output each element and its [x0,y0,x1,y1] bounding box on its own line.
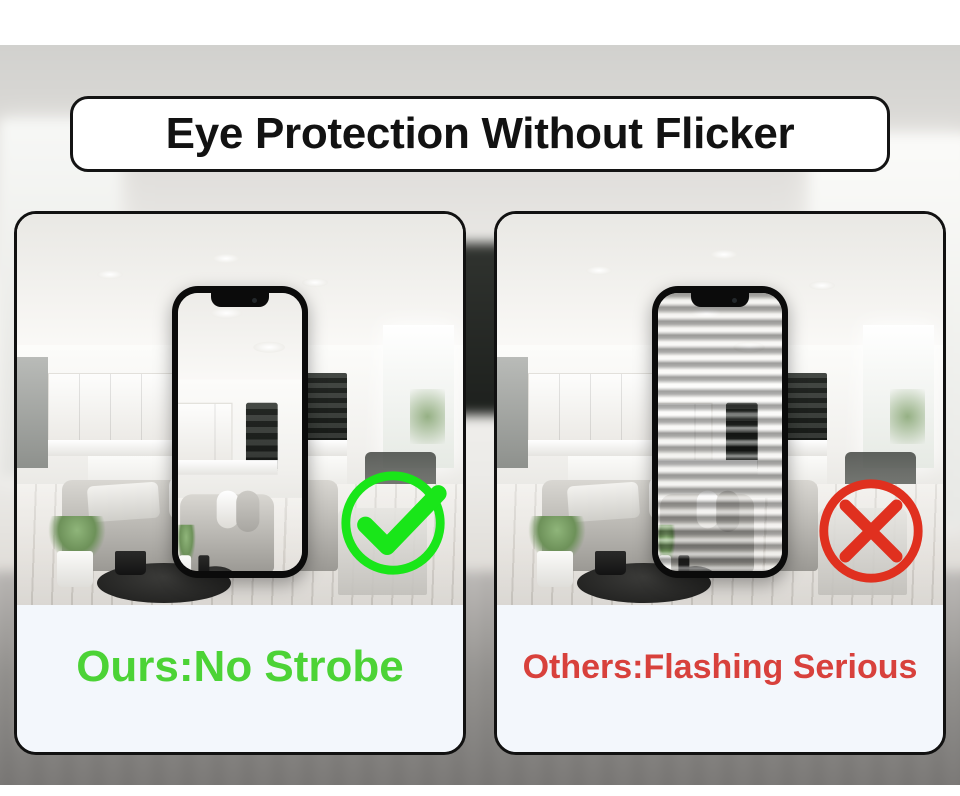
scene-fridge [17,357,48,468]
phone-notch-icon [211,293,269,307]
phone-screen-content [178,293,302,571]
scene-ceiling [178,293,302,389]
scene-mug [115,551,146,575]
scene-downlight [302,278,328,287]
scene-plant-pot [179,556,191,571]
scene-downlight [586,266,612,275]
scene-cushion [237,491,260,532]
scene-cabinets [178,403,233,463]
scene-window-plant [890,389,926,445]
scene-plant-pot [57,551,93,587]
front-camera-icon [252,298,257,303]
phone-screen-others [658,293,782,571]
phone-screen-ours [178,293,302,571]
scene-mug [199,556,210,571]
scene-mug [595,551,626,575]
caption-text-others: Others:Flashing Serious [523,650,918,684]
scene-plant-pot [537,551,573,587]
caption-text-ours: Ours:No Strobe [76,645,404,689]
caption-strip-ours: Ours:No Strobe [17,605,463,752]
flicker-highlight-overlay [658,293,782,571]
phone-mockup-ours [172,286,308,578]
headline-text: Eye Protection Without Flicker [166,112,795,156]
scene-downlight [97,270,123,279]
promo-banner: Eye Protection Without Flicker [0,0,960,796]
scene-counter [178,461,277,475]
phone-notch-icon [691,293,749,307]
scene-window-plant [410,389,446,445]
cross-circle-icon [812,472,930,590]
scene-fridge [497,357,528,468]
check-circle-icon [336,464,454,582]
headline-banner: Eye Protection Without Flicker [70,96,890,172]
phone-mockup-others [652,286,788,578]
caption-strip-others: Others:Flashing Serious [497,605,943,752]
scene-downlight [711,250,737,259]
front-camera-icon [732,298,737,303]
scene-downlight [213,254,239,263]
scene-cushion [217,491,238,528]
